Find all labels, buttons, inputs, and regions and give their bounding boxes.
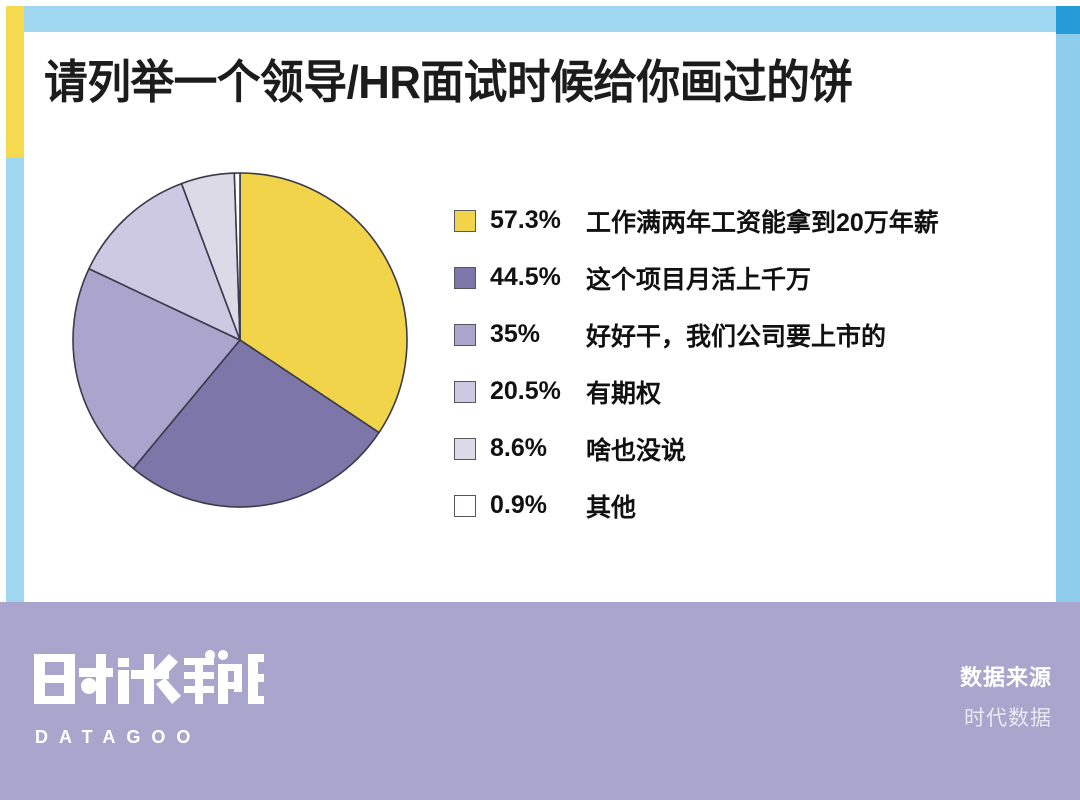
legend-percent: 57.3% <box>490 206 586 235</box>
frame-left-yellow-accent <box>6 6 24 158</box>
footer-bar: DATAGOO 数据来源 时代数据 <box>0 602 1080 800</box>
data-source-block: 数据来源 时代数据 <box>960 660 1052 732</box>
datagoo-logo-icon <box>32 650 264 712</box>
pie-chart-svg <box>70 170 410 510</box>
data-source-name: 时代数据 <box>960 702 1052 732</box>
frame-right-bar <box>1056 6 1080 622</box>
frame-right-blue-accent <box>1056 6 1080 34</box>
legend-item: 0.9%其他 <box>454 477 1044 534</box>
brand-logo: DATAGOO <box>32 650 272 748</box>
legend-label: 啥也没说 <box>586 431 686 467</box>
legend-label: 有期权 <box>586 374 661 410</box>
legend-swatch <box>454 267 476 289</box>
legend-percent: 44.5% <box>490 263 586 292</box>
legend-label: 工作满两年工资能拿到20万年薪 <box>586 203 939 239</box>
legend-swatch <box>454 438 476 460</box>
legend-label: 好好干，我们公司要上市的 <box>586 317 886 353</box>
legend-swatch <box>454 495 476 517</box>
legend-item: 20.5%有期权 <box>454 363 1044 420</box>
chart-legend: 57.3%工作满两年工资能拿到20万年薪44.5%这个项目月活上千万35%好好干… <box>454 192 1044 534</box>
legend-label: 这个项目月活上千万 <box>586 260 811 296</box>
brand-logo-subtitle: DATAGOO <box>32 727 272 748</box>
legend-item: 35%好好干，我们公司要上市的 <box>454 306 1044 363</box>
content-card: 请列举一个领导/HR面试时候给你画过的饼 57.3%工作满两年工资能拿到20万年… <box>24 32 1056 602</box>
data-source-title: 数据来源 <box>960 660 1052 692</box>
page-title: 请列举一个领导/HR面试时候给你画过的饼 <box>44 46 985 112</box>
frame-top-bar <box>18 6 1074 32</box>
legend-swatch <box>454 324 476 346</box>
legend-item: 8.6%啥也没说 <box>454 420 1044 477</box>
infographic-poster: 请列举一个领导/HR面试时候给你画过的饼 57.3%工作满两年工资能拿到20万年… <box>0 0 1080 800</box>
legend-swatch <box>454 381 476 403</box>
legend-item: 57.3%工作满两年工资能拿到20万年薪 <box>454 192 1044 249</box>
legend-swatch <box>454 210 476 232</box>
legend-label: 其他 <box>586 488 636 524</box>
legend-percent: 20.5% <box>490 377 586 406</box>
legend-percent: 35% <box>490 320 586 349</box>
legend-item: 44.5%这个项目月活上千万 <box>454 249 1044 306</box>
legend-percent: 0.9% <box>490 491 586 520</box>
pie-chart <box>70 170 410 510</box>
legend-percent: 8.6% <box>490 434 586 463</box>
